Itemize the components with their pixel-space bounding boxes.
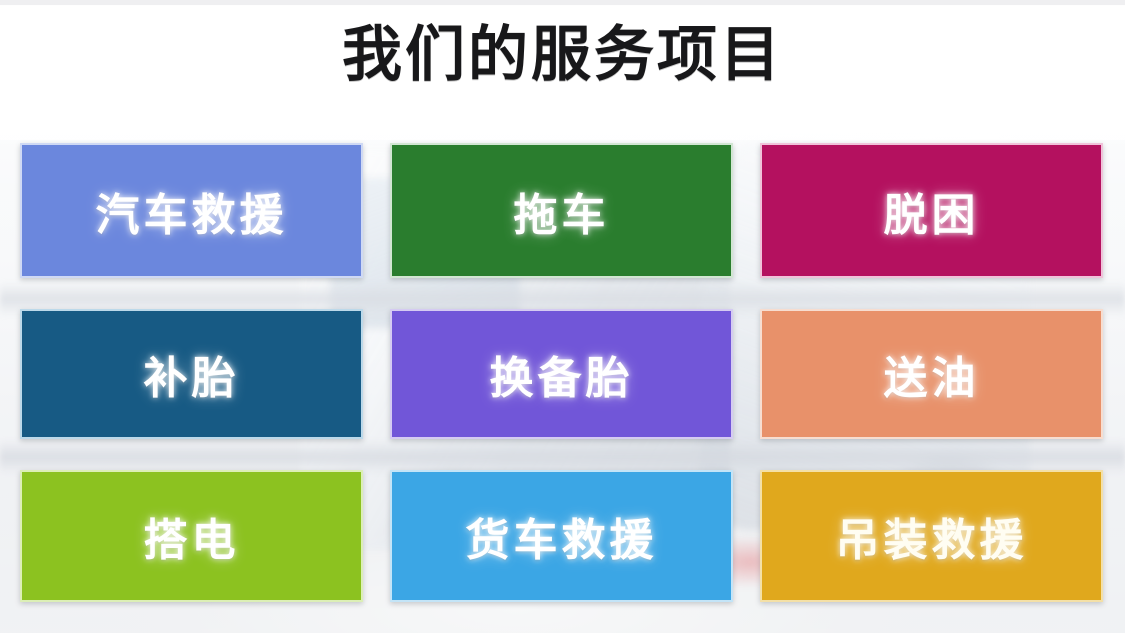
service-tile-label: 搭电 bbox=[144, 504, 240, 568]
service-tile[interactable]: 货车救援 bbox=[390, 470, 733, 602]
service-tile[interactable]: 脱困 bbox=[760, 143, 1103, 278]
service-tile[interactable]: 汽车救援 bbox=[20, 143, 363, 278]
top-edge-strip bbox=[0, 0, 1125, 5]
service-poster: 我们的服务项目 汽车救援拖车脱困补胎换备胎送油搭电货车救援吊装救援 bbox=[0, 0, 1125, 633]
service-tile[interactable]: 搭电 bbox=[20, 470, 363, 602]
service-tile-label: 补胎 bbox=[144, 342, 240, 406]
service-tile[interactable]: 送油 bbox=[760, 309, 1103, 439]
service-tile-label: 拖车 bbox=[514, 179, 610, 243]
service-tile-label: 吊装救援 bbox=[836, 504, 1028, 568]
service-tile-grid: 汽车救援拖车脱困补胎换备胎送油搭电货车救援吊装救援 bbox=[20, 143, 1105, 633]
service-tile-label: 汽车救援 bbox=[96, 179, 288, 243]
service-tile-label: 送油 bbox=[884, 342, 980, 406]
service-tile[interactable]: 吊装救援 bbox=[760, 470, 1103, 602]
service-tile[interactable]: 换备胎 bbox=[390, 309, 733, 439]
page-title: 我们的服务项目 bbox=[0, 22, 1125, 88]
service-tile-label: 换备胎 bbox=[490, 342, 634, 406]
service-tile-label: 脱困 bbox=[884, 179, 980, 243]
service-tile-label: 货车救援 bbox=[466, 504, 658, 568]
service-tile[interactable]: 拖车 bbox=[390, 143, 733, 278]
service-tile[interactable]: 补胎 bbox=[20, 309, 363, 439]
